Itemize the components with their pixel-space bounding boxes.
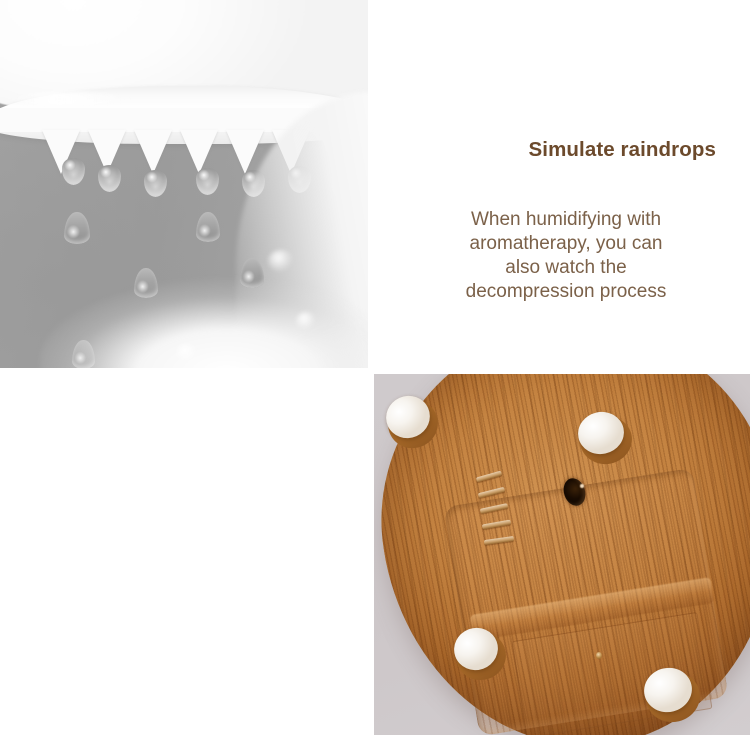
rim-highlight (10, 92, 130, 106)
base-screw-dot (596, 652, 602, 659)
simulate-raindrops-heading: Simulate raindrops (529, 138, 716, 162)
rim-tooth (180, 130, 218, 174)
simulate-raindrops-text-panel: Simulate raindrops When humidifying with… (374, 0, 750, 368)
port-hole-glint (580, 484, 584, 488)
rim-tooth (134, 130, 172, 174)
mist-blob (176, 344, 198, 362)
anti-slip-pad-text-panel: Bottom anti slip pad Prevent slipping Si… (0, 374, 368, 750)
mist-blob (296, 312, 316, 330)
wood-base-product-photo (374, 374, 750, 735)
simulate-raindrops-body: When humidifying with aromatherapy, you … (416, 208, 716, 304)
raindrop-product-photo (0, 0, 368, 368)
mist-blob (268, 250, 294, 272)
product-feature-page: Simulate raindrops When humidifying with… (0, 0, 750, 750)
